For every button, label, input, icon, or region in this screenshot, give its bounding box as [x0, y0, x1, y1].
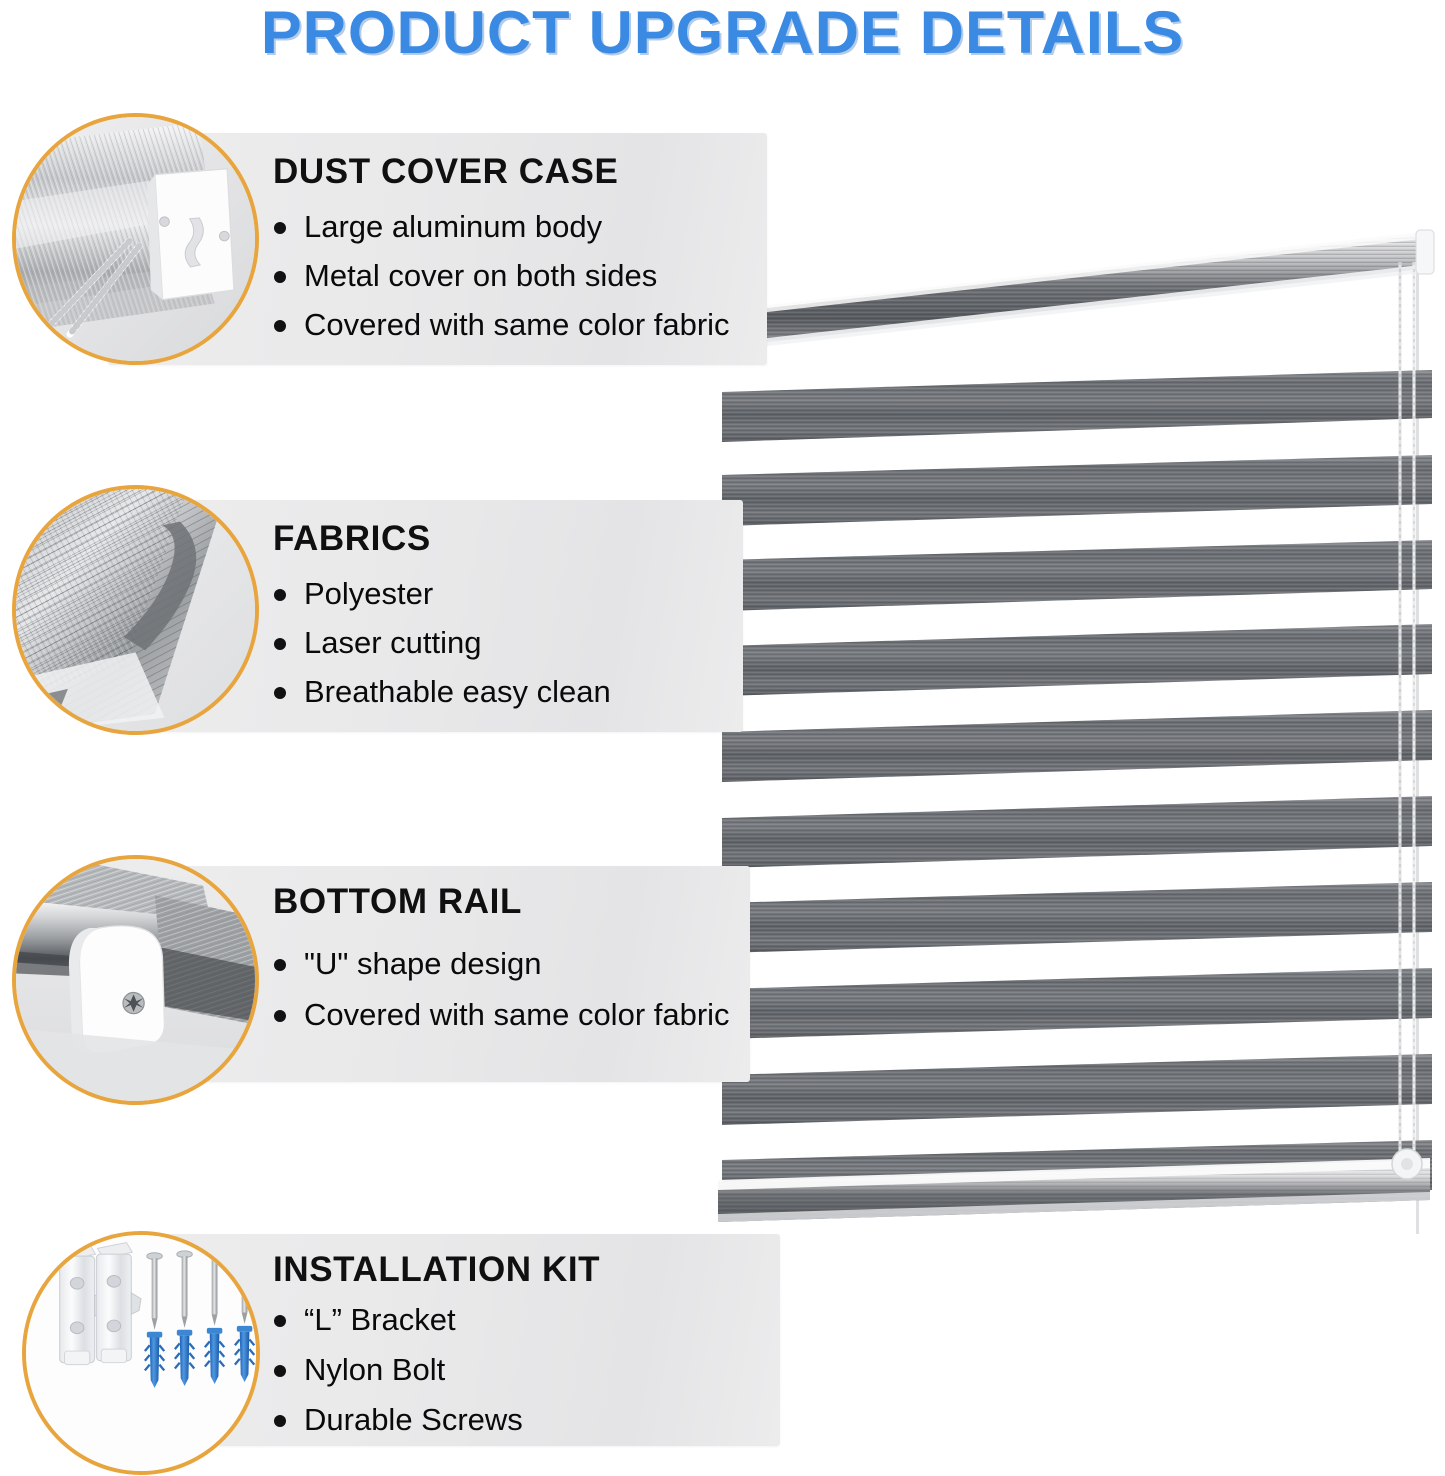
product-image-zebra-blind: [700, 222, 1445, 1282]
list-item: Nylon Bolt: [272, 1354, 523, 1385]
infographic-page: PRODUCT UPGRADE DETAILS: [0, 0, 1445, 1476]
section-bullets: “L” Bracket Nylon Bolt Durable Screws: [272, 1304, 523, 1435]
section-heading: INSTALLATION KIT: [273, 1250, 600, 1290]
list-item: Durable Screws: [272, 1404, 523, 1435]
callout-installation-kit: INSTALLATION KIT “L” Bracket Nylon Bolt …: [0, 0, 800, 1476]
photo-oval-installation-kit: [22, 1231, 260, 1475]
list-item: “L” Bracket: [272, 1304, 523, 1335]
photo-bracket-screw-anchor-set: [22, 1231, 260, 1475]
